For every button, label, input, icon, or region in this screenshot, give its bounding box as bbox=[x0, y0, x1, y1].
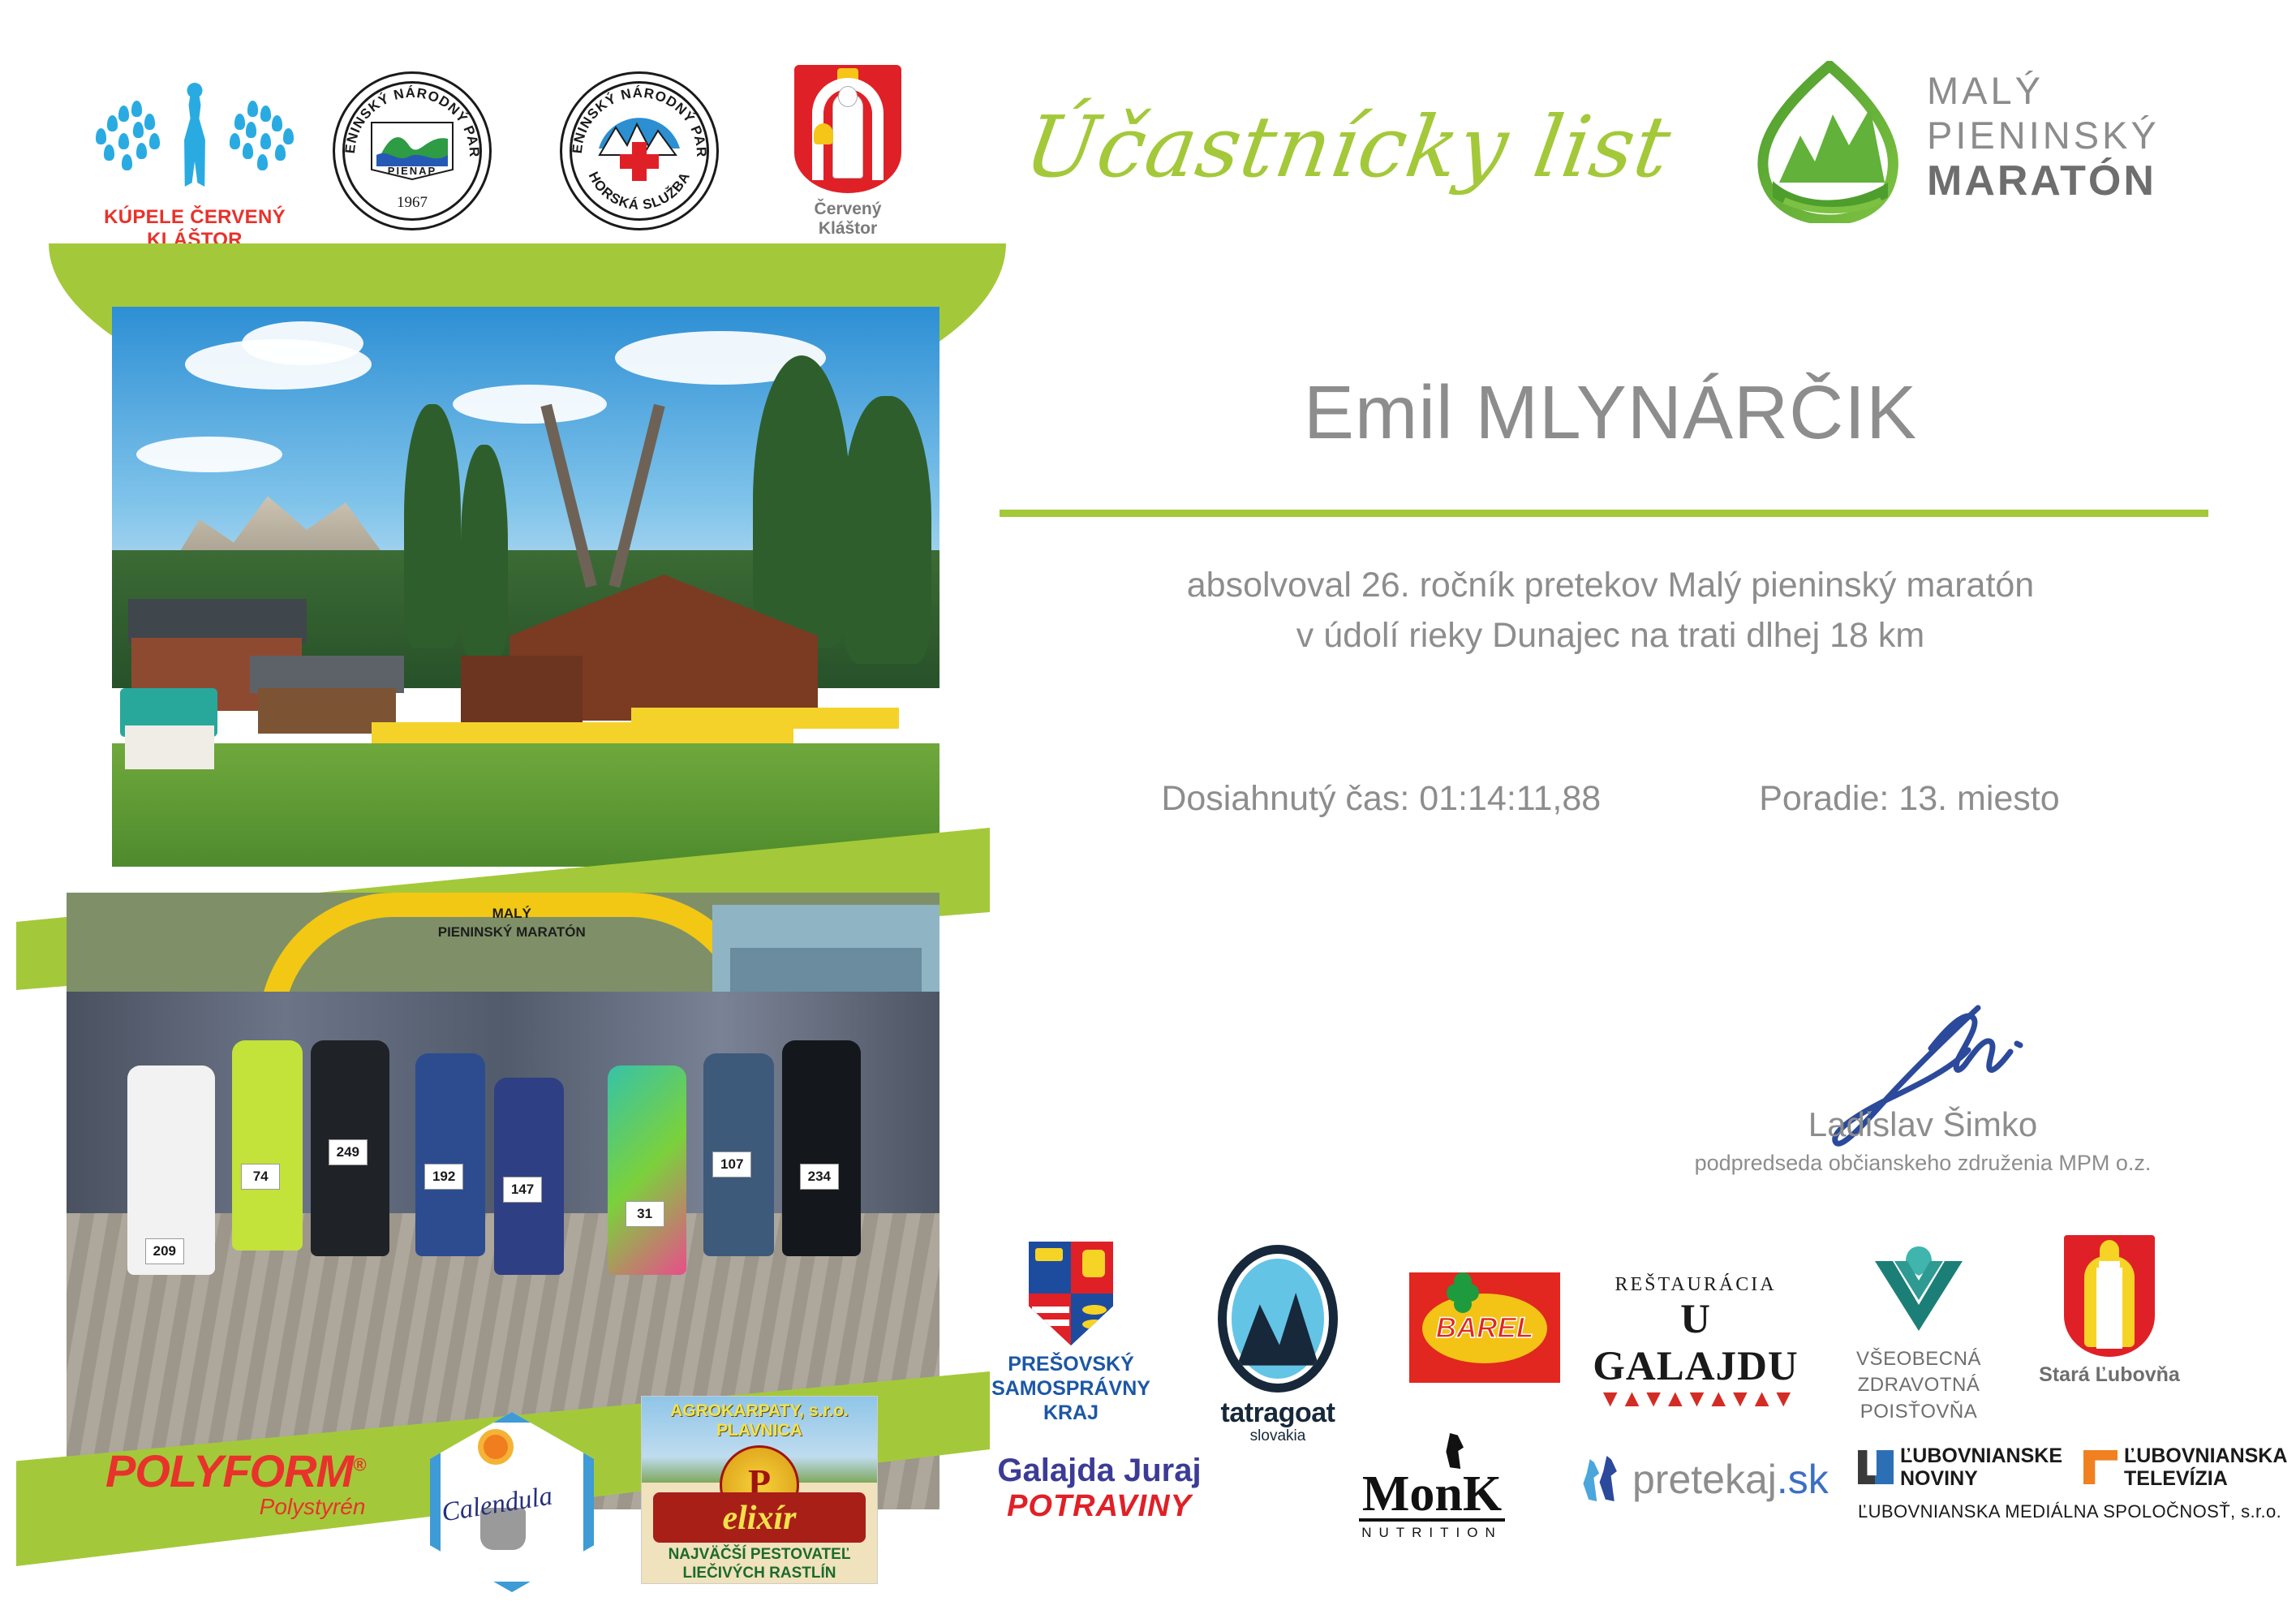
monk-sub: NUTRITION bbox=[1314, 1525, 1550, 1541]
registered-trademark-icon: ® bbox=[353, 1454, 365, 1474]
mpm-line1: MALÝ bbox=[1927, 69, 2160, 114]
results-row: Dosiahnutý čas: 01:14:11,88 Poradie: 13.… bbox=[1002, 779, 2219, 819]
galajdu-line2: U GALAJDU bbox=[1582, 1296, 1809, 1390]
goat-mountain-icon bbox=[1218, 1245, 1338, 1393]
stara-lubovna-coat-of-arms-icon bbox=[2064, 1235, 2155, 1357]
galajda-line1: Galajda Juraj bbox=[982, 1453, 1217, 1489]
logo-stara-lubovna: Stará Ľubovňa bbox=[2028, 1235, 2191, 1387]
presov-label: PREŠOVSKÝ SAMOSPRÁVNY KRAJ bbox=[982, 1352, 1160, 1425]
agrokarpaty-sub: NAJVÄČŠÍ PESTOVATEĽLIEČIVÝCH RASTLÍN bbox=[642, 1546, 877, 1583]
tv-monogram-icon bbox=[2083, 1450, 2118, 1484]
green-leaf-mountain-icon bbox=[1748, 61, 1911, 223]
participation-certificate: KÚPELE ČERVENÝ KLÁŠTOR Smerdžonka PIENIN… bbox=[0, 0, 2296, 1623]
statement-line-1: absolvoval 26. ročník pretekov Malý pien… bbox=[1187, 566, 2034, 605]
polyform-name: POLYFORM bbox=[105, 1445, 353, 1496]
logo-galajda-juraj: Galajda Juraj POTRAVINY bbox=[982, 1453, 1217, 1524]
photo-collage: MALÝ PIENINSKÝ MARATÓN 209 74 249 192 14… bbox=[49, 243, 941, 1396]
running-figures-icon bbox=[1582, 1454, 1624, 1505]
participant-name: Emil MLYNÁRČIK bbox=[1002, 369, 2219, 456]
logo-kupele-cerveny-klastor: KÚPELE ČERVENÝ KLÁŠTOR Smerdžonka bbox=[89, 81, 300, 268]
logo-horska-sluzba: PIENINSKÝ NÁRODNÝ PARK HORSKÁ SLUŽBA bbox=[560, 71, 719, 230]
mpm-line3: MARATÓN bbox=[1927, 157, 2160, 205]
page-title: Účastnícky list bbox=[1018, 97, 1677, 196]
ln-monogram-icon bbox=[1858, 1450, 1894, 1484]
logo-tatragoat: tatragoat slovakia bbox=[1189, 1245, 1367, 1445]
polyform-sub: Polystyrén bbox=[105, 1494, 365, 1520]
logo-obec-cerveny-klastor: Červený Kláštor bbox=[787, 65, 909, 219]
signature-block: Ladislav Šimko podpredseda občianskeho z… bbox=[1639, 998, 2207, 1176]
logo-polyform: POLYFORM® Polystyrén bbox=[105, 1444, 365, 1520]
left-sponsor-logos: POLYFORM® Polystyrén Calendula AGROKARPA… bbox=[81, 1363, 965, 1607]
statement-line-2: v údolí rieky Dunajec na trati dlhej 18 … bbox=[1296, 616, 1924, 655]
pretekaj-name: pretekaj bbox=[1632, 1457, 1777, 1502]
coat-of-arms-icon bbox=[794, 65, 901, 193]
vszp-v-icon bbox=[1870, 1240, 1967, 1334]
right-sponsor-logos: PREŠOVSKÝ SAMOSPRÁVNY KRAJ tatragoat slo… bbox=[982, 1217, 2280, 1607]
logo-monk-nutrition: MonK NUTRITION bbox=[1314, 1438, 1550, 1541]
signatory-role: podpredseda občianskeho združenia MPM o.… bbox=[1639, 1151, 2207, 1176]
svg-text:PIENAP: PIENAP bbox=[388, 165, 436, 177]
elixir-brand: elixír bbox=[653, 1499, 866, 1538]
finish-time: Dosiahnutý čas: 01:14:11,88 bbox=[1161, 779, 1601, 819]
signatory-name: Ladislav Šimko bbox=[1639, 1105, 2207, 1144]
vszp-label: VŠEOBECNÁ ZDRAVOTNÁ POISŤOVŇA bbox=[1838, 1346, 2000, 1425]
logo-lubovnianska-medialna: ĽUBOVNIANSKENOVINY ĽUBOVNIANSKATELEVÍZIA… bbox=[1858, 1444, 2296, 1522]
barel-name: BAREL bbox=[1422, 1294, 1547, 1363]
presov-coat-of-arms-icon bbox=[1029, 1242, 1113, 1345]
logo-calendula: Calendula bbox=[430, 1412, 584, 1574]
lms-company-name: ĽUBOVNIANSKA MEDIÁLNA SPOLOČNOSŤ, s.r.o. bbox=[1858, 1501, 2296, 1522]
angel-wings-icon bbox=[89, 81, 300, 203]
logo-pienap: PIENINSKÝ NÁRODNÝ PARK PIENAP 1967 bbox=[333, 71, 492, 230]
pienap-shield-icon: PIENAP bbox=[368, 118, 456, 183]
pretekaj-tld: .sk bbox=[1777, 1457, 1829, 1502]
mpm-logo: MALÝ PIENINSKÝ MARATÓN bbox=[1748, 61, 2268, 227]
achievement-statement: absolvoval 26. ročník pretekov Malý pien… bbox=[1002, 560, 2219, 661]
lubovnianska-televizia-label: ĽUBOVNIANSKATELEVÍZIA bbox=[2124, 1444, 2287, 1490]
monk-name: MonK bbox=[1359, 1470, 1505, 1522]
pienap-year: 1967 bbox=[335, 194, 489, 212]
placement: Poradie: 13. miesto bbox=[1759, 779, 2059, 819]
stara-lubovna-name: Stará Ľubovňa bbox=[2028, 1363, 2191, 1387]
top-sponsor-logos: KÚPELE ČERVENÝ KLÁŠTOR Smerdžonka PIENIN… bbox=[89, 49, 917, 252]
logo-presovsky-kraj: PREŠOVSKÝ SAMOSPRÁVNY KRAJ bbox=[982, 1242, 1160, 1425]
lubovnianske-noviny-label: ĽUBOVNIANSKENOVINY bbox=[1900, 1444, 2062, 1490]
galajda-line2: POTRAVINY bbox=[982, 1489, 1217, 1524]
folk-ornament-icon: ▼▲▼▲▼▲▼▲▼ bbox=[1582, 1385, 1809, 1413]
arch-text: MALÝ PIENINSKÝ MARATÓN bbox=[320, 905, 703, 942]
logo-u-galajdu: REŠTAURÁCIA U GALAJDU ▼▲▼▲▼▲▼▲▼ bbox=[1582, 1274, 1809, 1413]
tatragoat-name: tatragoat bbox=[1189, 1397, 1367, 1429]
galajdu-line1: REŠTAURÁCIA bbox=[1582, 1274, 1809, 1296]
photo-festival-venue bbox=[112, 307, 939, 867]
logo-pretekaj: pretekaj.sk bbox=[1582, 1454, 1850, 1505]
green-divider bbox=[1000, 510, 2208, 517]
horska-sluzba-arc-text: PIENINSKÝ NÁRODNÝ PARK HORSKÁ SLUŽBA bbox=[562, 74, 716, 228]
obec-caption: Červený Kláštor bbox=[787, 200, 909, 239]
monk-silhouette-icon bbox=[1444, 1433, 1464, 1469]
logo-agrokarpaty: AGROKARPATY, s.r.o. PLAVNICA P elixír NA… bbox=[641, 1396, 878, 1584]
mpm-line2: PIENINSKÝ bbox=[1927, 114, 2160, 158]
marigold-flower-icon bbox=[484, 1435, 508, 1459]
logo-vszp: VŠEOBECNÁ ZDRAVOTNÁ POISŤOVŇA bbox=[1838, 1240, 2000, 1425]
logo-barel: BAREL bbox=[1404, 1272, 1566, 1383]
agrokarpaty-top: AGROKARPATY, s.r.o. PLAVNICA bbox=[642, 1401, 877, 1440]
